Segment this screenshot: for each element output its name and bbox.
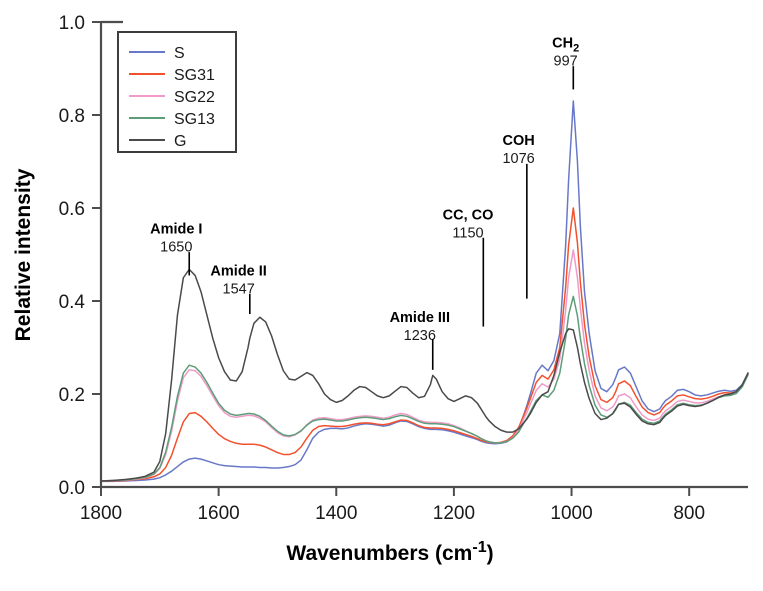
annotation-name: CC, CO [443, 208, 494, 224]
legend-label-sg31[interactable]: SG31 [174, 67, 215, 84]
annotation-value: 1650 [160, 240, 192, 256]
legend-label-s[interactable]: S [174, 45, 185, 62]
annotation-value: 997 [554, 54, 578, 70]
annotation-name: Amide III [390, 310, 450, 326]
y-axis-title: Relative intensity [12, 168, 35, 341]
y-tick-label: 0.2 [59, 385, 85, 406]
legend[interactable]: SSG31SG22SG13G [118, 32, 236, 152]
y-tick-label: 0.0 [59, 478, 85, 499]
y-tick-label: 0.4 [59, 292, 86, 313]
annotation-name: Amide I [150, 222, 202, 238]
legend-label-sg22[interactable]: SG22 [174, 89, 215, 106]
y-tick-label: 0.8 [59, 106, 85, 127]
svg-text:Wavenumbers (cm-1): Wavenumbers (cm-1) [286, 539, 493, 565]
legend-label-sg13[interactable]: SG13 [174, 111, 215, 128]
x-tick-label: 1600 [197, 503, 239, 524]
legend-label-g[interactable]: G [174, 133, 186, 150]
spectra-plot: 0.00.20.40.60.81.01800160014001200100080… [0, 0, 763, 591]
x-axis-title: Wavenumbers (cm-1) [286, 539, 493, 565]
annotation-value: 1236 [404, 328, 436, 344]
x-tick-label: 1000 [550, 503, 592, 524]
x-tick-label: 1400 [315, 503, 357, 524]
annotation-name: COH [502, 133, 534, 149]
annotation-name: Amide II [210, 263, 266, 279]
annotation-value: 1076 [502, 151, 534, 167]
y-tick-label: 0.6 [59, 199, 85, 220]
spectra-figure: 0.00.20.40.60.81.01800160014001200100080… [0, 0, 763, 591]
annotation-value: 1150 [452, 226, 483, 242]
x-tick-label: 800 [673, 503, 705, 524]
x-tick-label: 1200 [433, 503, 475, 524]
x-tick-label: 1800 [80, 503, 122, 524]
svg-text:Relative intensity: Relative intensity [12, 168, 35, 341]
y-tick-label: 1.0 [59, 13, 85, 34]
